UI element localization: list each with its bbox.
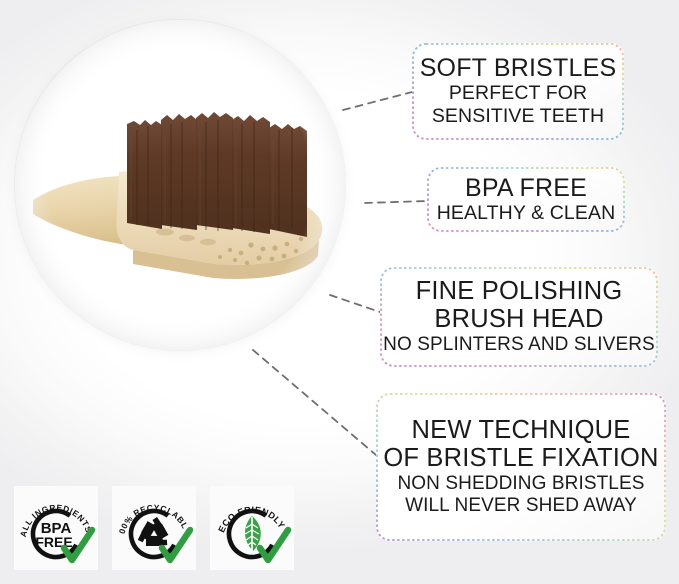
callout-headline: FINE POLISHING <box>416 278 623 306</box>
badge-bpa-free: ALL INGREDIENTS BPA FREE <box>14 486 98 570</box>
product-photo-circle <box>15 20 345 350</box>
certification-badges: ALL INGREDIENTS BPA FREE 100% RECYCLABLE <box>14 486 294 570</box>
callout-line-1: NON SHEDDING BRISTLES <box>397 473 644 495</box>
callout-fine-polishing: FINE POLISHING BRUSH HEAD NO SPLINTERS A… <box>380 267 658 367</box>
callout-soft-bristles: SOFT BRISTLES PERFECT FOR SENSITIVE TEET… <box>412 43 624 140</box>
callout-headline-2: BRUSH HEAD <box>434 306 603 334</box>
product-infographic: SOFT BRISTLES PERFECT FOR SENSITIVE TEET… <box>0 0 679 584</box>
callout-headline: SOFT BRISTLES <box>420 55 617 82</box>
badge-eco-friendly: ECO FRIENDLY <box>210 486 294 570</box>
toothbrush-illustration <box>15 20 345 350</box>
check-icon <box>260 530 288 560</box>
callout-new-technique: NEW TECHNIQUE OF BRISTLE FIXATION NON SH… <box>376 393 666 541</box>
callout-headline: BPA FREE <box>465 175 587 202</box>
badge-recyclable: 100% RECYCLABLE <box>112 486 196 570</box>
callout-headline-2: OF BRISTLE FIXATION <box>383 445 658 473</box>
callout-line-2: WILL NEVER SHED AWAY <box>405 495 637 517</box>
connector-soft <box>343 92 412 110</box>
connector-new <box>253 350 376 455</box>
connector-bpa <box>365 201 427 203</box>
callout-line-1: HEALTHY & CLEAN <box>437 202 616 225</box>
callout-line-1: NO SPLINTERS AND SLIVERS <box>383 334 655 356</box>
callout-headline: NEW TECHNIQUE <box>412 417 631 445</box>
callout-line-2: SENSITIVE TEETH <box>432 105 604 128</box>
callout-bpa-free: BPA FREE HEALTHY & CLEAN <box>427 167 625 232</box>
callout-line-1: PERFECT FOR <box>449 82 587 105</box>
